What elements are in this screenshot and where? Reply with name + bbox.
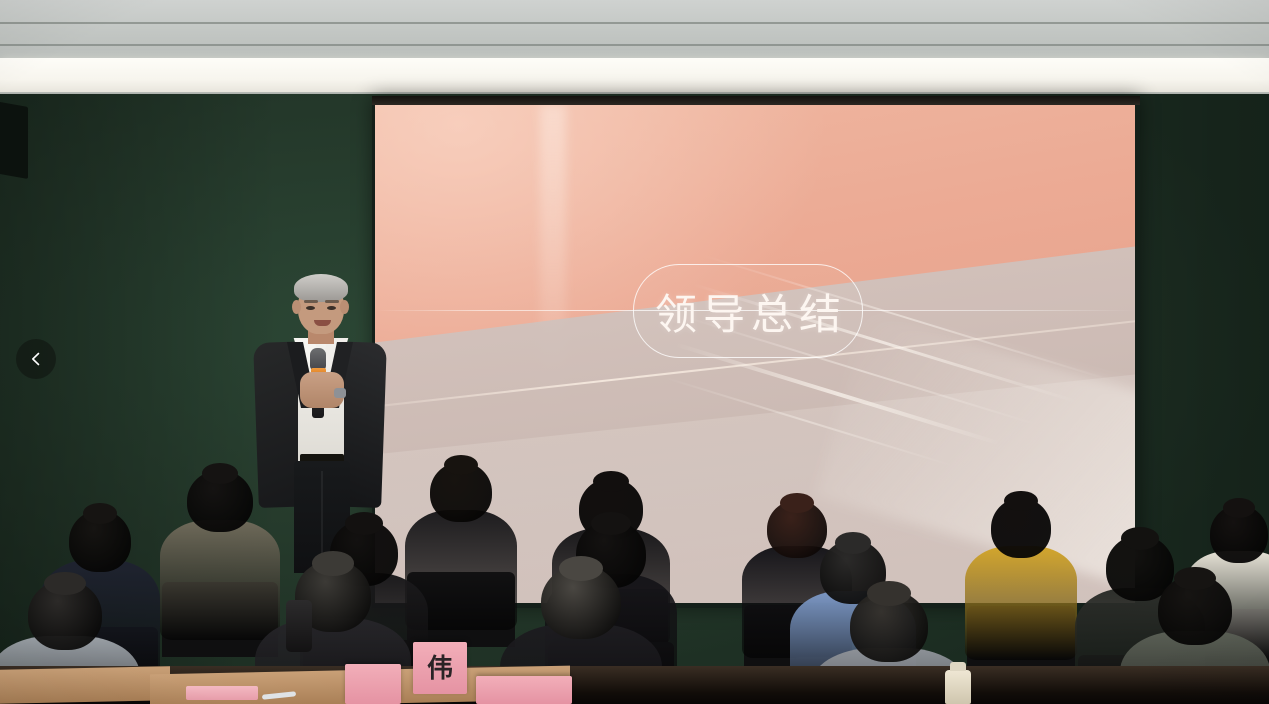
attendee-hair-top [1004,491,1038,511]
attendee-hair-top [780,493,814,513]
slide-title: 领导总结 [649,281,847,342]
table-surface [0,666,170,704]
wall-speaker [0,101,28,179]
presenter-ear [340,300,349,314]
photo-viewer: 领导总结 伟 [0,0,1269,704]
projection-screen-top-bar [372,96,1140,105]
attendee-hair-top [867,581,911,605]
attendee-hair-top [591,512,630,535]
thermos [286,600,312,652]
paper-sheet [186,686,258,700]
presenter-hair [294,274,348,302]
microphone-head [310,348,326,370]
previous-image-button[interactable] [16,339,56,379]
name-placard-wei: 伟 [413,642,467,694]
attendee-hair-top [44,572,85,596]
attendee-hair-top [1223,498,1255,518]
presenter-brow [304,300,318,303]
attendee-torso [965,546,1077,660]
ceiling [0,0,1269,60]
attendee-b5 [965,498,1077,672]
attendee-hair-top [1121,527,1159,549]
attendee-hair-top [1174,567,1215,591]
attendee-hair-top [345,512,383,534]
attendee-hair-top [202,463,239,484]
placard-text: 伟 [427,655,453,681]
presenter-eye [306,306,315,310]
water-bottle [945,670,971,704]
attendee-hair-top [312,551,355,575]
slide-title-pill: 领导总结 [633,264,863,358]
ceiling-light-strip [0,58,1269,94]
ceiling-seam [0,44,1269,46]
presenter-brow [325,300,339,303]
ceiling-seam [0,22,1269,24]
name-placard [476,676,572,704]
chevron-left-icon [28,351,44,367]
attendee-hair-top [83,503,118,524]
presenter-eye [327,306,336,310]
presenter-ear [292,300,301,314]
name-placard [345,664,401,704]
presenter-watch [334,388,346,398]
attendee-hair-top [593,471,629,492]
